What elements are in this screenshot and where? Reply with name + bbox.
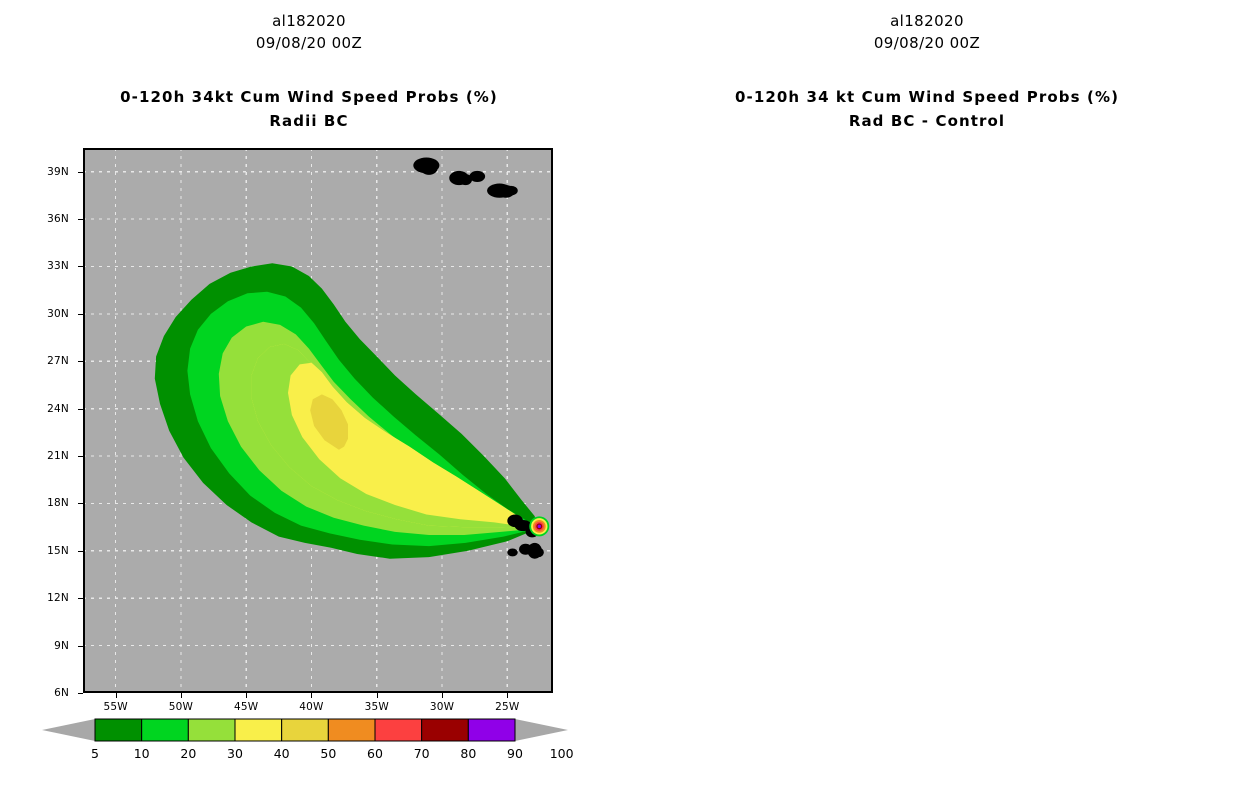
- y-tick-label: 30N: [47, 308, 69, 320]
- colorbar-tick-label: 10: [134, 746, 150, 761]
- colorbar-band[interactable]: [468, 719, 515, 741]
- colorbar-tick-label: 70: [414, 746, 430, 761]
- x-tick-mark: [442, 693, 443, 698]
- x-tick-mark: [116, 693, 117, 698]
- x-tick-label: 55W: [103, 701, 127, 713]
- left-colorbar[interactable]: 5102030405060708090100: [40, 715, 570, 775]
- y-tick-mark: [78, 266, 83, 267]
- colorbar-tick-label: 100: [550, 746, 574, 761]
- y-tick-label: 15N: [47, 545, 69, 557]
- colorbar-band[interactable]: [235, 719, 282, 741]
- y-tick-label: 12N: [47, 592, 69, 604]
- colorbar-arrow-low: [42, 719, 95, 741]
- y-tick-label: 9N: [54, 640, 69, 652]
- colorbar-band[interactable]: [328, 719, 375, 741]
- y-tick-label: 36N: [47, 213, 69, 225]
- right-datetime: 09/08/20 00Z: [618, 34, 1236, 52]
- right-chart-title: 0-120h 34 kt Cum Wind Speed Probs (%): [618, 88, 1236, 106]
- colorbar-band[interactable]: [282, 719, 329, 741]
- left-storm-id: al182020: [0, 12, 618, 30]
- colorbar-tick-label: 5: [91, 746, 99, 761]
- y-tick-label: 24N: [47, 403, 69, 415]
- left-colorbar-bands: [40, 715, 570, 745]
- y-tick-label: 6N: [54, 687, 69, 699]
- colorbar-tick-label: 40: [274, 746, 290, 761]
- y-tick-mark: [78, 409, 83, 410]
- right-chart-subtitle: Rad BC - Control: [618, 112, 1236, 130]
- y-tick-mark: [78, 551, 83, 552]
- colorbar-band[interactable]: [95, 719, 142, 741]
- panel-rad-bc-minus-control: al182020 09/08/20 00Z 0-120h 34 kt Cum W…: [618, 0, 1236, 800]
- y-tick-mark: [78, 314, 83, 315]
- left-plot-frame: [83, 148, 553, 693]
- y-tick-mark: [78, 646, 83, 647]
- x-tick-mark: [507, 693, 508, 698]
- right-storm-id: al182020: [618, 12, 1236, 30]
- x-tick-mark: [311, 693, 312, 698]
- y-tick-mark: [78, 172, 83, 173]
- y-tick-mark: [78, 456, 83, 457]
- y-tick-mark: [78, 219, 83, 220]
- left-chart-subtitle: Radii BC: [0, 112, 618, 130]
- colorbar-band[interactable]: [422, 719, 469, 741]
- colorbar-tick-label: 60: [367, 746, 383, 761]
- colorbar-tick-label: 80: [460, 746, 476, 761]
- x-tick-mark: [377, 693, 378, 698]
- y-tick-mark: [78, 598, 83, 599]
- panel-radii-bc: al182020 09/08/20 00Z 0-120h 34kt Cum Wi…: [0, 0, 618, 800]
- x-tick-mark: [246, 693, 247, 698]
- y-tick-mark: [78, 503, 83, 504]
- x-tick-label: 35W: [365, 701, 389, 713]
- y-tick-label: 18N: [47, 497, 69, 509]
- y-tick-mark: [78, 361, 83, 362]
- colorbar-band[interactable]: [142, 719, 189, 741]
- left-datetime: 09/08/20 00Z: [0, 34, 618, 52]
- x-tick-label: 50W: [169, 701, 193, 713]
- x-tick-label: 40W: [299, 701, 323, 713]
- colorbar-tick-label: 90: [507, 746, 523, 761]
- colorbar-arrow-high: [515, 719, 568, 741]
- x-tick-mark: [181, 693, 182, 698]
- x-tick-label: 45W: [234, 701, 258, 713]
- colorbar-tick-label: 50: [320, 746, 336, 761]
- y-tick-mark: [78, 693, 83, 694]
- y-tick-label: 33N: [47, 260, 69, 272]
- y-tick-label: 39N: [47, 166, 69, 178]
- colorbar-band[interactable]: [188, 719, 235, 741]
- colorbar-tick-label: 30: [227, 746, 243, 761]
- y-tick-label: 21N: [47, 450, 69, 462]
- left-chart-title: 0-120h 34kt Cum Wind Speed Probs (%): [0, 88, 618, 106]
- x-tick-label: 30W: [430, 701, 454, 713]
- y-tick-label: 27N: [47, 355, 69, 367]
- x-tick-label: 25W: [495, 701, 519, 713]
- colorbar-band[interactable]: [375, 719, 422, 741]
- colorbar-tick-label: 20: [180, 746, 196, 761]
- map-plot-radii-bc[interactable]: [83, 148, 553, 693]
